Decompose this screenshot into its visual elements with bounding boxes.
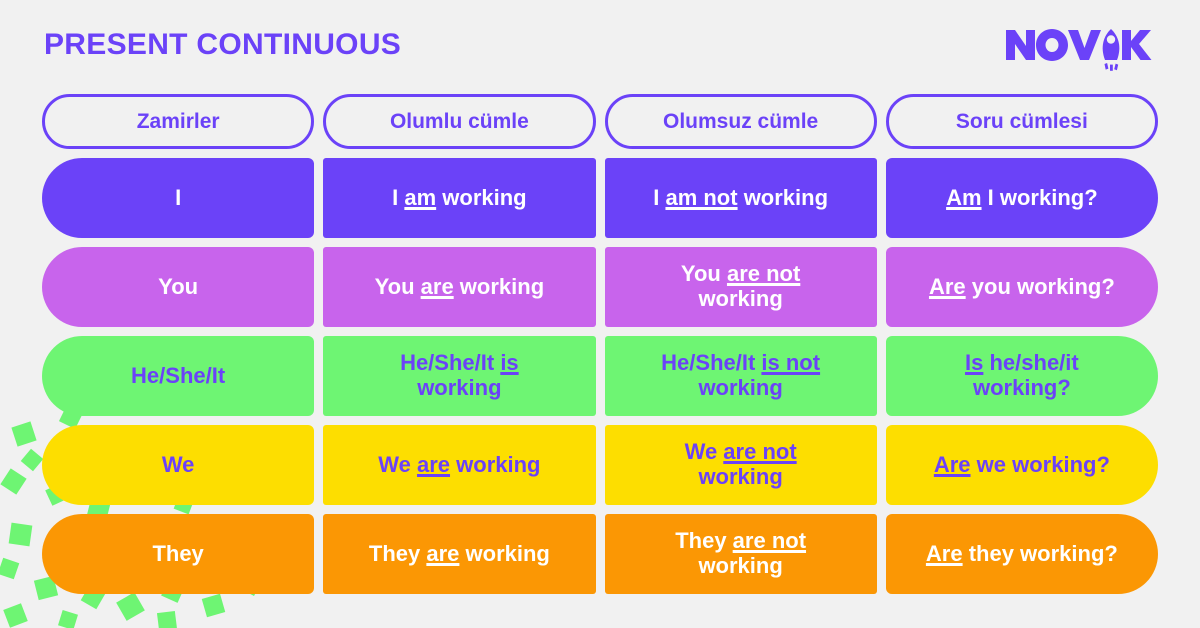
conjugation-table: ZamirlerOlumlu cümleOlumsuz cümleSoru cü…: [42, 94, 1158, 594]
cell-text: He/She/It is notworking: [661, 351, 820, 401]
cell-text: Are we working?: [934, 453, 1110, 478]
table-row: He/She/ItHe/She/It isworkingHe/She/It is…: [42, 336, 1158, 416]
pronoun-cell: He/She/It: [42, 336, 314, 416]
cell-text: They are working: [369, 542, 550, 567]
pronoun-cell: We: [42, 425, 314, 505]
confetti-square: [116, 592, 145, 621]
sentence-cell: We are working: [323, 425, 595, 505]
confetti-square: [157, 611, 177, 628]
table-header-cell-2: Olumsuz cümle: [605, 94, 877, 149]
sentence-cell: Are you working?: [886, 247, 1158, 327]
table-header-cell-3: Soru cümlesi: [886, 94, 1158, 149]
cell-text: He/She/It: [131, 364, 225, 389]
sentence-cell: Is he/she/itworking?: [886, 336, 1158, 416]
pronoun-cell: They: [42, 514, 314, 594]
cell-text: He/She/It isworking: [400, 351, 519, 401]
table-header-label: Olumsuz cümle: [663, 110, 818, 134]
table-row: WeWe are workingWe are notworkingAre we …: [42, 425, 1158, 505]
table-row: YouYou are workingYou are notworkingAre …: [42, 247, 1158, 327]
cell-text: I: [175, 186, 181, 211]
sentence-cell: Am I working?: [886, 158, 1158, 238]
confetti-square: [3, 603, 28, 628]
cell-text: You are notworking: [681, 262, 800, 312]
cell-text: They: [152, 542, 203, 567]
cell-text: I am working: [392, 186, 526, 211]
cell-text: I am not working: [653, 186, 828, 211]
table-header-cell-0: Zamirler: [42, 94, 314, 149]
sentence-cell: We are notworking: [605, 425, 877, 505]
sentence-cell: They are notworking: [605, 514, 877, 594]
cell-text: Is he/she/itworking?: [965, 351, 1079, 401]
confetti-square: [202, 594, 226, 618]
pronoun-cell: You: [42, 247, 314, 327]
cell-text: You: [158, 275, 198, 300]
confetti-square: [58, 610, 78, 628]
table-header-label: Soru cümlesi: [956, 110, 1088, 134]
sentence-cell: You are notworking: [605, 247, 877, 327]
confetti-square: [11, 421, 36, 446]
sentence-cell: They are working: [323, 514, 595, 594]
table-row: II am workingI am not workingAm I workin…: [42, 158, 1158, 238]
confetti-square: [9, 523, 33, 547]
table-row: TheyThey are workingThey are notworkingA…: [42, 514, 1158, 594]
cell-text: Am I working?: [946, 186, 1098, 211]
confetti-square: [21, 449, 44, 472]
sentence-cell: I am working: [323, 158, 595, 238]
confetti-square: [0, 558, 19, 580]
sentence-cell: Are we working?: [886, 425, 1158, 505]
sentence-cell: I am not working: [605, 158, 877, 238]
page-title: PRESENT CONTINUOUS: [44, 28, 401, 62]
cell-text: We are working: [378, 453, 540, 478]
cell-text: They are notworking: [675, 529, 806, 579]
cell-text: Are you working?: [929, 275, 1115, 300]
page-header: PRESENT CONTINUOUS: [0, 0, 1200, 88]
cell-text: Are they working?: [926, 542, 1118, 567]
sentence-cell: He/She/It isworking: [323, 336, 595, 416]
sentence-cell: You are working: [323, 247, 595, 327]
cell-text: We are notworking: [685, 440, 797, 490]
cell-text: We: [162, 453, 195, 478]
table-header-label: Zamirler: [137, 110, 220, 134]
novakid-logo[interactable]: [1004, 26, 1156, 70]
table-header-row: ZamirlerOlumlu cümleOlumsuz cümleSoru cü…: [42, 94, 1158, 149]
table-header-cell-1: Olumlu cümle: [323, 94, 595, 149]
pronoun-cell: I: [42, 158, 314, 238]
sentence-cell: Are they working?: [886, 514, 1158, 594]
cell-text: You are working: [375, 275, 545, 300]
sentence-cell: He/She/It is notworking: [605, 336, 877, 416]
infographic-page: PRESENT CONTINUOUS: [0, 0, 1200, 628]
table-header-label: Olumlu cümle: [390, 110, 529, 134]
confetti-square: [0, 468, 26, 494]
